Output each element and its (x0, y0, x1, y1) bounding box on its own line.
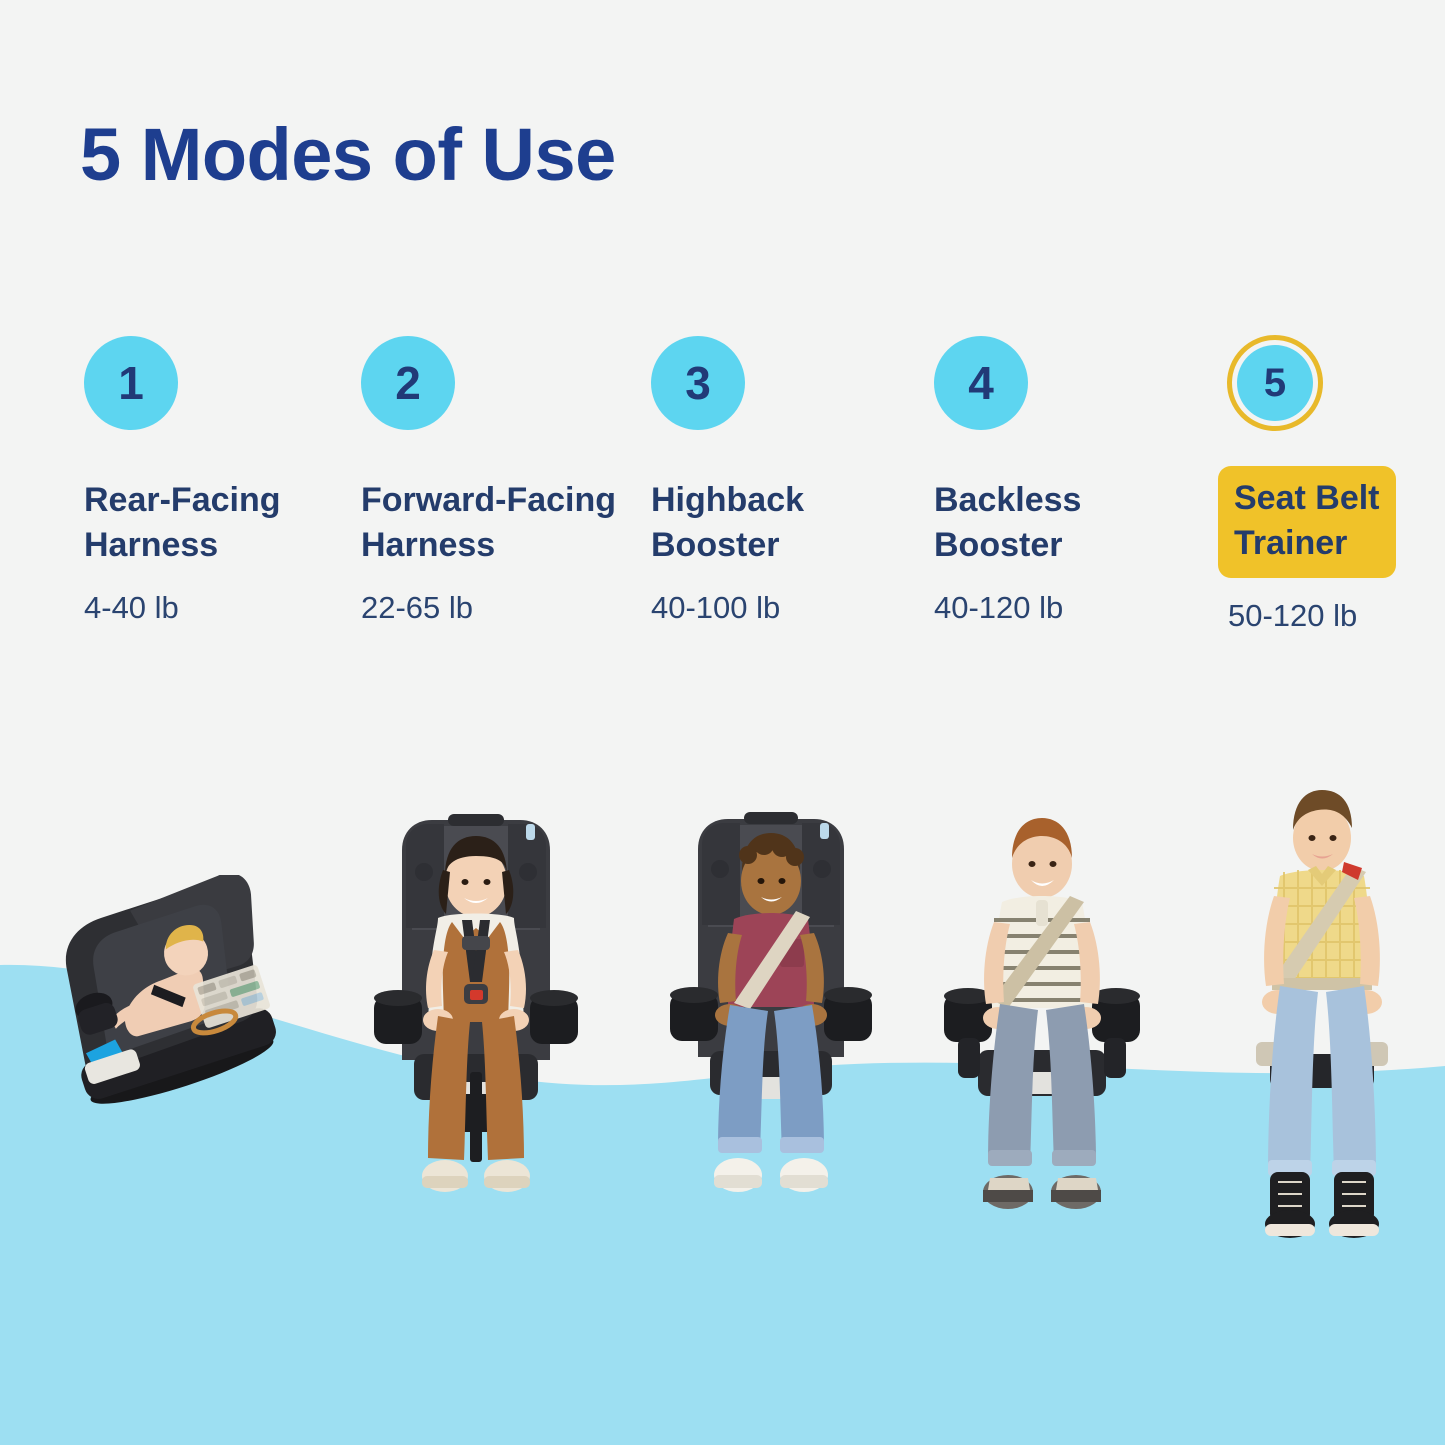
mode-step-5[interactable]: 5 Seat Belt Trainer 50-120 lb (1228, 336, 1445, 436)
step-label-5: Seat Belt Trainer (1218, 466, 1396, 578)
mode-step-4[interactable]: 4 Backless Booster 40-120 lb (934, 336, 1214, 436)
mode-step-3[interactable]: 3 Highback Booster 40-100 lb (651, 336, 931, 436)
step-badge-wrap-1: 1 (84, 336, 184, 436)
step-label-4: Backless Booster (934, 478, 1081, 568)
step-label-line-5a: Seat Belt (1234, 476, 1380, 521)
modes-of-use-list: 1 Rear-Facing Harness 4-40 lb 2 Forward-… (0, 336, 1445, 636)
photo-rear-facing-seat (8, 875, 328, 1115)
photo-seat-belt-trainer (1216, 772, 1428, 1272)
step-badge-wrap-5: 5 (1228, 336, 1328, 436)
step-label-line-2b: Harness (361, 523, 616, 568)
step-label-line-5b: Trainer (1234, 521, 1380, 566)
step-label-3: Highback Booster (651, 478, 804, 568)
step-number-badge-3: 3 (651, 336, 745, 430)
step-weight-4: 40-120 lb (934, 592, 1063, 623)
photo-backless-booster (936, 802, 1148, 1242)
step-number-badge-4: 4 (934, 336, 1028, 430)
step-badge-wrap-2: 2 (361, 336, 461, 436)
infographic-canvas: 5 Modes of Use 1 Rear-Facing Harness 4-4… (0, 0, 1445, 1445)
mode-step-2[interactable]: 2 Forward-Facing Harness 22-65 lb (361, 336, 641, 436)
step-badge-wrap-3: 3 (651, 336, 751, 436)
step-number-badge-2: 2 (361, 336, 455, 430)
photo-forward-facing-harness (366, 810, 586, 1230)
photo-highback-booster (664, 807, 878, 1232)
step-label-line-1a: Rear-Facing (84, 478, 281, 523)
step-label-line-3b: Booster (651, 523, 804, 568)
mode-step-1[interactable]: 1 Rear-Facing Harness 4-40 lb (84, 336, 364, 436)
step-label-line-3a: Highback (651, 478, 804, 523)
step-number-badge-5: 5 (1237, 345, 1313, 421)
step-badge-wrap-4: 4 (934, 336, 1034, 436)
step-label-line-4b: Booster (934, 523, 1081, 568)
photo-strip (0, 760, 1445, 1380)
step-weight-5: 50-120 lb (1228, 600, 1357, 631)
step-label-line-1b: Harness (84, 523, 281, 568)
step-number-badge-1: 1 (84, 336, 178, 430)
page-title: 5 Modes of Use (80, 118, 616, 192)
step-label-line-4a: Backless (934, 478, 1081, 523)
step-weight-1: 4-40 lb (84, 592, 179, 623)
step-weight-3: 40-100 lb (651, 592, 780, 623)
step-label-line-2a: Forward-Facing (361, 478, 616, 523)
step-label-2: Forward-Facing Harness (361, 478, 616, 568)
step-label-1: Rear-Facing Harness (84, 478, 281, 568)
step-weight-2: 22-65 lb (361, 592, 473, 623)
